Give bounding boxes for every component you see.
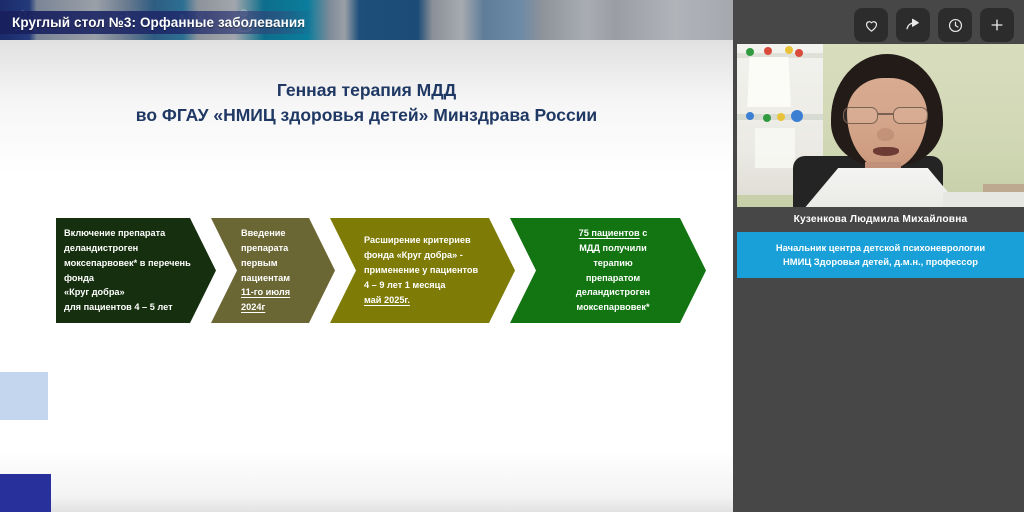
flow-text-line: моксепарвовек* в перечень: [64, 256, 206, 271]
speaker-role-banner: Начальник центра детской психоневрологии…: [737, 232, 1024, 278]
flow-step-3-text: Расширение критериевфонда «Круг добра» -…: [330, 233, 515, 308]
flow-step-2: Введениепрепаратапервымпациентам 11-го и…: [211, 218, 335, 323]
flow-text-line: моксепарвовек*: [536, 300, 690, 315]
flow-step-4-text: 75 пациентов сМДД получилитерапиюпрепара…: [510, 226, 706, 315]
presentation-slide: Круглый стол №3: Орфанные заболевания Ге…: [0, 0, 733, 512]
flow-text-line: 4 – 9 лет 1 месяца: [364, 278, 505, 293]
speaker-role-line2: НМИЦ Здоровья детей, д.м.н., профессор: [743, 255, 1018, 269]
flow-step-3: Расширение критериевфонда «Круг добра» -…: [330, 218, 515, 323]
slide-title: Генная терапия МДД во ФГАУ «НМИЦ здоровь…: [0, 78, 733, 128]
magnet-decor: [795, 49, 803, 57]
magnet-decor: [746, 48, 754, 56]
flow-step-1-text: Включение препаратаделандистрогенмоксепа…: [56, 226, 216, 315]
flow-text-line: применение у пациентов: [364, 263, 505, 278]
flow-text-line: МДД получили: [536, 241, 690, 256]
speaker-glasses: [841, 107, 933, 124]
magnet-decor: [763, 114, 771, 122]
slide-title-line2: во ФГАУ «НМИЦ здоровья детей» Минздрава …: [0, 103, 733, 128]
flow-text-line: 11-го июля: [241, 285, 327, 300]
speaker-panel: Кузенкова Людмила Михайловна Начальник ц…: [733, 0, 1024, 512]
flow-text-line: Включение препарата: [64, 226, 206, 241]
speaker-role-line1: Начальник центра детской психоневрологии: [743, 241, 1018, 255]
favorite-button[interactable]: [854, 8, 888, 42]
magnet-decor: [764, 47, 772, 55]
glasses-lens-right: [893, 107, 928, 124]
flow-text-line: первым: [241, 256, 327, 271]
video-toolbar: [854, 8, 1014, 42]
session-title-text: Круглый стол №3: Орфанные заболевания: [12, 15, 305, 30]
flow-text-line: «Круг добра»: [64, 285, 206, 300]
flow-step-4: 75 пациентов сМДД получилитерапиюпрепара…: [510, 218, 706, 323]
history-button[interactable]: [938, 8, 972, 42]
flow-text-line: деландистроген: [536, 285, 690, 300]
glasses-bridge: [878, 113, 893, 115]
share-button[interactable]: [896, 8, 930, 42]
flow-text-line: 75 пациентов с: [536, 226, 690, 241]
flow-text-line: пациентам: [241, 271, 327, 286]
flow-text-line: Расширение критериев: [364, 233, 505, 248]
magnet-decor: [791, 110, 803, 122]
decorative-block-light: [0, 372, 48, 420]
speaker-nose: [877, 128, 894, 141]
flow-text-line: фонда «Круг добра» -: [364, 248, 505, 263]
session-title-bar: Круглый стол №3: Орфанные заболевания: [0, 11, 315, 34]
glasses-lens-left: [843, 107, 878, 124]
flow-text-line: препарата: [241, 241, 327, 256]
flow-text-line: препаратом: [536, 271, 690, 286]
wall-paper-sheet: [747, 57, 791, 107]
flow-text-line: 2024г: [241, 300, 327, 315]
flow-text-line: для пациентов 4 – 5 лет: [64, 300, 206, 315]
flow-text-line: Введение: [241, 226, 327, 241]
flow-text-line: терапию: [536, 256, 690, 271]
decorative-block-dark: [0, 474, 51, 512]
speaker-shoulder: [943, 192, 1024, 207]
speaker-video-feed[interactable]: [737, 44, 1024, 207]
magnet-decor: [777, 113, 785, 121]
process-flow-diagram: Включение препаратаделандистрогенмоксепа…: [56, 218, 706, 323]
magnet-decor: [785, 46, 793, 54]
add-button[interactable]: [980, 8, 1014, 42]
wall-drawing-sheet: [755, 128, 795, 168]
speaker-mouth: [873, 147, 899, 156]
desk-edge: [983, 184, 1024, 192]
flow-step-2-text: Введениепрепаратапервымпациентам 11-го и…: [211, 226, 335, 315]
flow-text-line: май 2025г.: [364, 293, 505, 308]
slide-title-line1: Генная терапия МДД: [0, 78, 733, 103]
flow-step-1: Включение препаратаделандистрогенмоксепа…: [56, 218, 216, 323]
app-window: Круглый стол №3: Орфанные заболевания Ге…: [0, 0, 1024, 512]
flow-text-line: фонда: [64, 271, 206, 286]
speaker-name: Кузенкова Людмила Михайловна: [737, 214, 1024, 225]
magnet-decor: [746, 112, 754, 120]
flow-text-line: деландистроген: [64, 241, 206, 256]
